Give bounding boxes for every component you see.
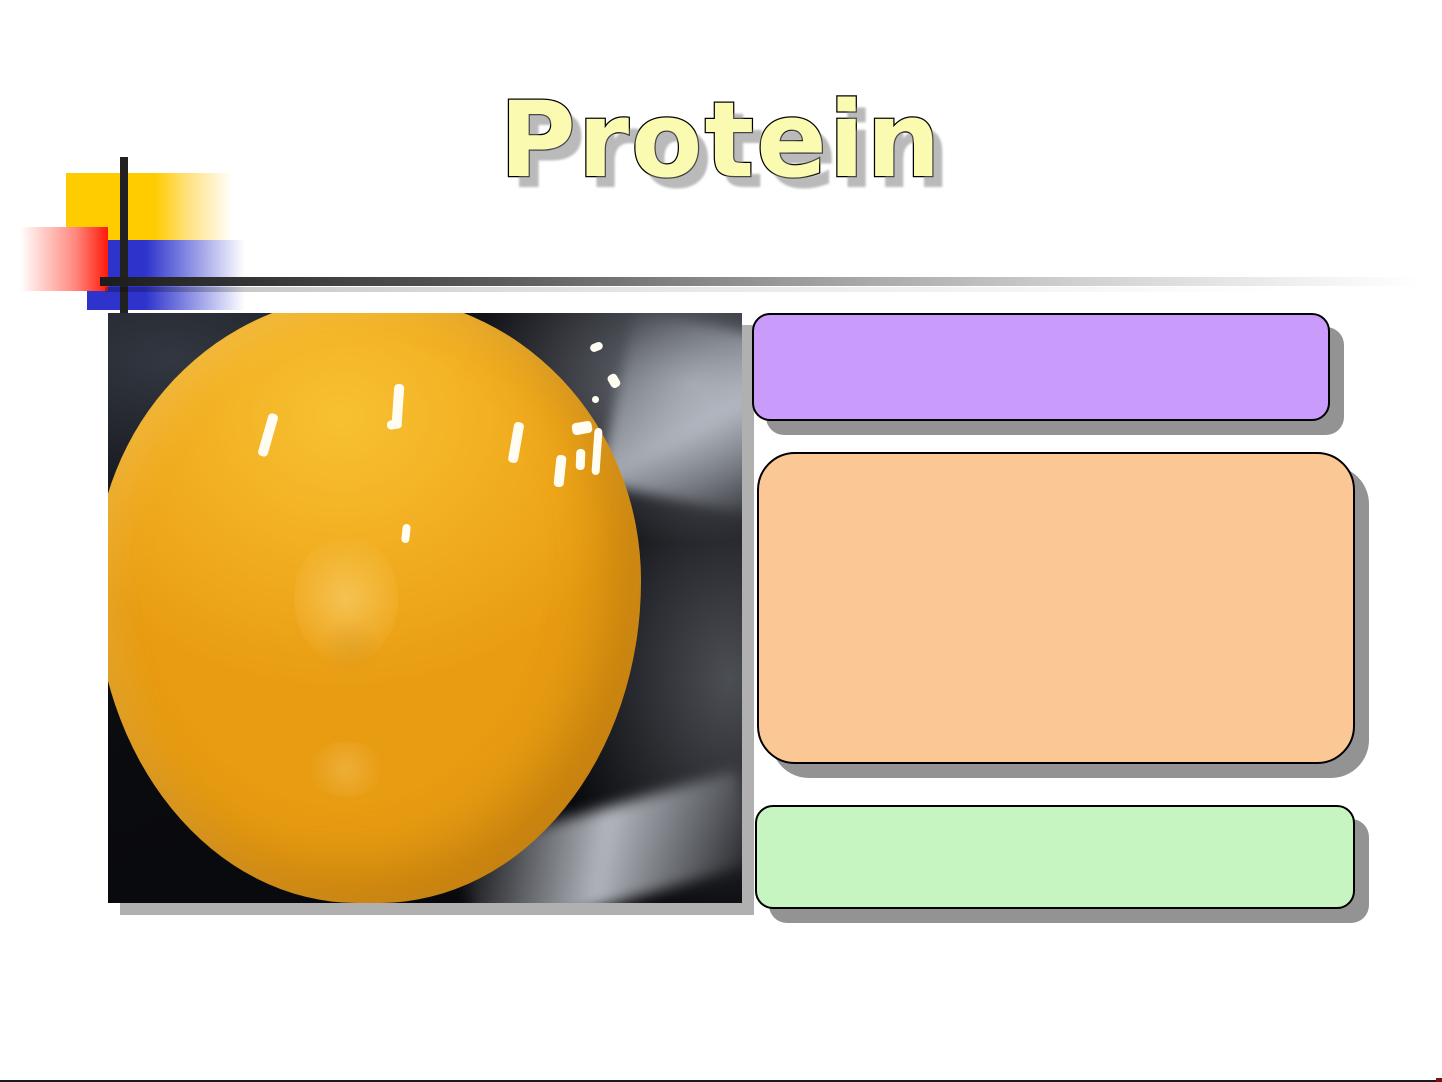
green-callout-text	[757, 807, 1353, 827]
specular-highlight	[576, 449, 586, 471]
decor-horizontal-line-shadow	[105, 287, 1420, 292]
specular-highlight	[592, 396, 600, 403]
purple-callout-box[interactable]	[752, 313, 1330, 421]
egg-yolk-photo	[108, 313, 742, 903]
page-title: Protein	[0, 86, 1442, 195]
purple-callout-text	[754, 315, 1328, 335]
orange-callout-text	[759, 454, 1353, 474]
decor-horizontal-line	[100, 277, 1420, 286]
decor-blue-gradient-block	[145, 240, 245, 310]
slide-canvas: Protein	[0, 0, 1442, 1082]
yolk-lower-glow	[308, 742, 384, 797]
decor-red-block	[20, 227, 108, 291]
orange-callout-box[interactable]	[757, 452, 1355, 764]
green-callout-box[interactable]	[755, 805, 1355, 909]
bottom-rule-tip	[1436, 1078, 1442, 1082]
yolk-germinal-disc-core	[324, 617, 379, 678]
